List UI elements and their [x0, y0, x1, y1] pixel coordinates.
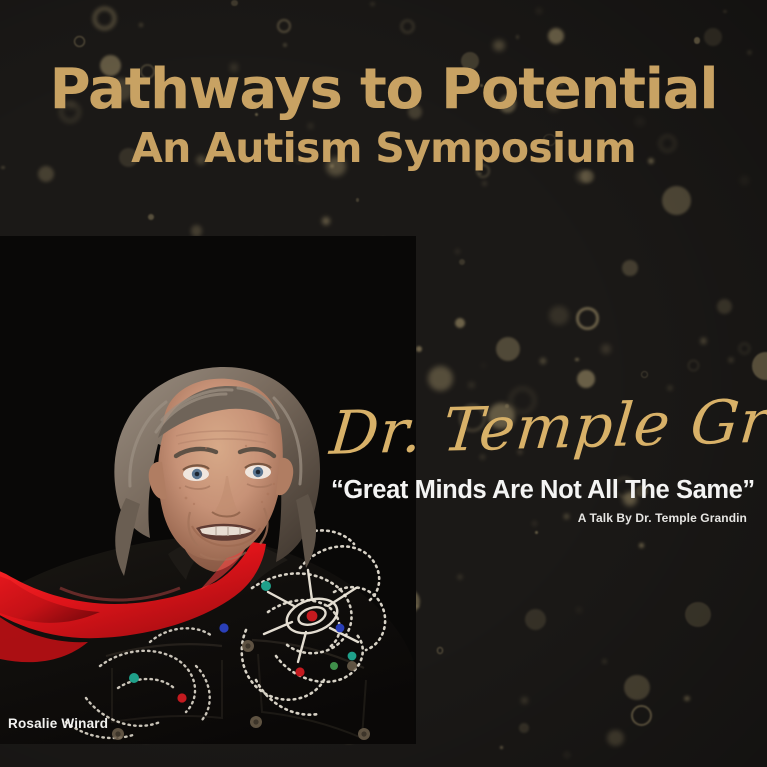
bokeh-dot	[93, 7, 116, 30]
bokeh-dot	[459, 259, 465, 265]
bokeh-dot	[483, 182, 486, 185]
bokeh-dot	[564, 752, 570, 758]
bokeh-dot	[525, 609, 547, 631]
bokeh-dot	[139, 23, 143, 27]
page-title: Pathways to Potential	[0, 62, 767, 118]
bokeh-dot	[739, 343, 750, 354]
photo-credit: Rosalie Winard	[8, 716, 108, 731]
bokeh-dot	[283, 43, 287, 47]
bokeh-dot	[522, 698, 528, 704]
bokeh-dot	[631, 705, 652, 726]
bokeh-dot	[602, 659, 607, 664]
bokeh-dot	[500, 746, 503, 749]
bokeh-dot	[148, 214, 154, 220]
bokeh-dot	[458, 575, 462, 579]
bokeh-dot	[575, 358, 578, 361]
bokeh-dot	[729, 358, 733, 362]
bokeh-dot	[741, 177, 748, 184]
bokeh-dot	[540, 358, 546, 364]
bokeh-dot	[493, 40, 505, 52]
bokeh-dot	[456, 250, 460, 254]
bokeh-dot	[684, 696, 690, 702]
bokeh-dot	[601, 344, 611, 354]
bokeh-dot	[701, 338, 706, 343]
bokeh-dot	[688, 360, 699, 371]
bokeh-dot	[482, 364, 485, 367]
bokeh-dot	[624, 675, 649, 700]
bokeh-dot	[717, 299, 732, 314]
bokeh-dot	[704, 28, 722, 46]
bokeh-dot	[537, 9, 541, 13]
bokeh-dot	[519, 723, 528, 732]
bokeh-dot	[437, 647, 444, 654]
bokeh-dot	[496, 337, 520, 361]
bokeh-dot	[74, 36, 85, 47]
bokeh-dot	[607, 730, 624, 747]
bokeh-dot	[428, 366, 453, 391]
bokeh-dot	[622, 260, 638, 276]
bokeh-dot	[748, 51, 751, 54]
bokeh-dot	[469, 383, 473, 387]
speaker-quote: “Great Minds Are Not All The Same”	[331, 476, 751, 505]
bokeh-dot	[401, 20, 414, 33]
bokeh-dot	[685, 602, 710, 627]
bokeh-dot	[639, 543, 645, 549]
bokeh-dot	[577, 370, 595, 388]
bokeh-dot	[662, 186, 691, 215]
bokeh-dot	[548, 28, 564, 44]
bokeh-dot	[322, 217, 330, 225]
speaker-byline: A Talk By Dr. Temple Grandin	[331, 511, 751, 525]
bokeh-dot	[549, 306, 569, 326]
bokeh-dot	[694, 37, 701, 44]
speaker-name-script: Dr. Temple Grandin	[328, 392, 755, 464]
headline-block: Pathways to Potential An Autism Symposiu…	[0, 62, 767, 171]
bokeh-dot	[370, 2, 374, 6]
bokeh-dot	[356, 198, 359, 201]
bokeh-dot	[577, 608, 581, 612]
speaker-block: Dr. Temple Grandin “Great Minds Are Not …	[331, 398, 751, 525]
bokeh-dot	[641, 371, 648, 378]
bokeh-dot	[455, 318, 465, 328]
bokeh-dot	[231, 0, 238, 6]
bokeh-dot	[576, 307, 599, 330]
bokeh-dot	[416, 346, 422, 352]
poster-canvas: Rosalie Winard Pathways to Potential An …	[0, 0, 767, 767]
bokeh-dot	[516, 35, 520, 39]
bokeh-dot	[535, 531, 538, 534]
page-subtitle: An Autism Symposium	[0, 126, 767, 171]
bokeh-dot	[752, 352, 767, 379]
bokeh-dot	[277, 19, 291, 33]
bokeh-dot	[723, 10, 727, 14]
